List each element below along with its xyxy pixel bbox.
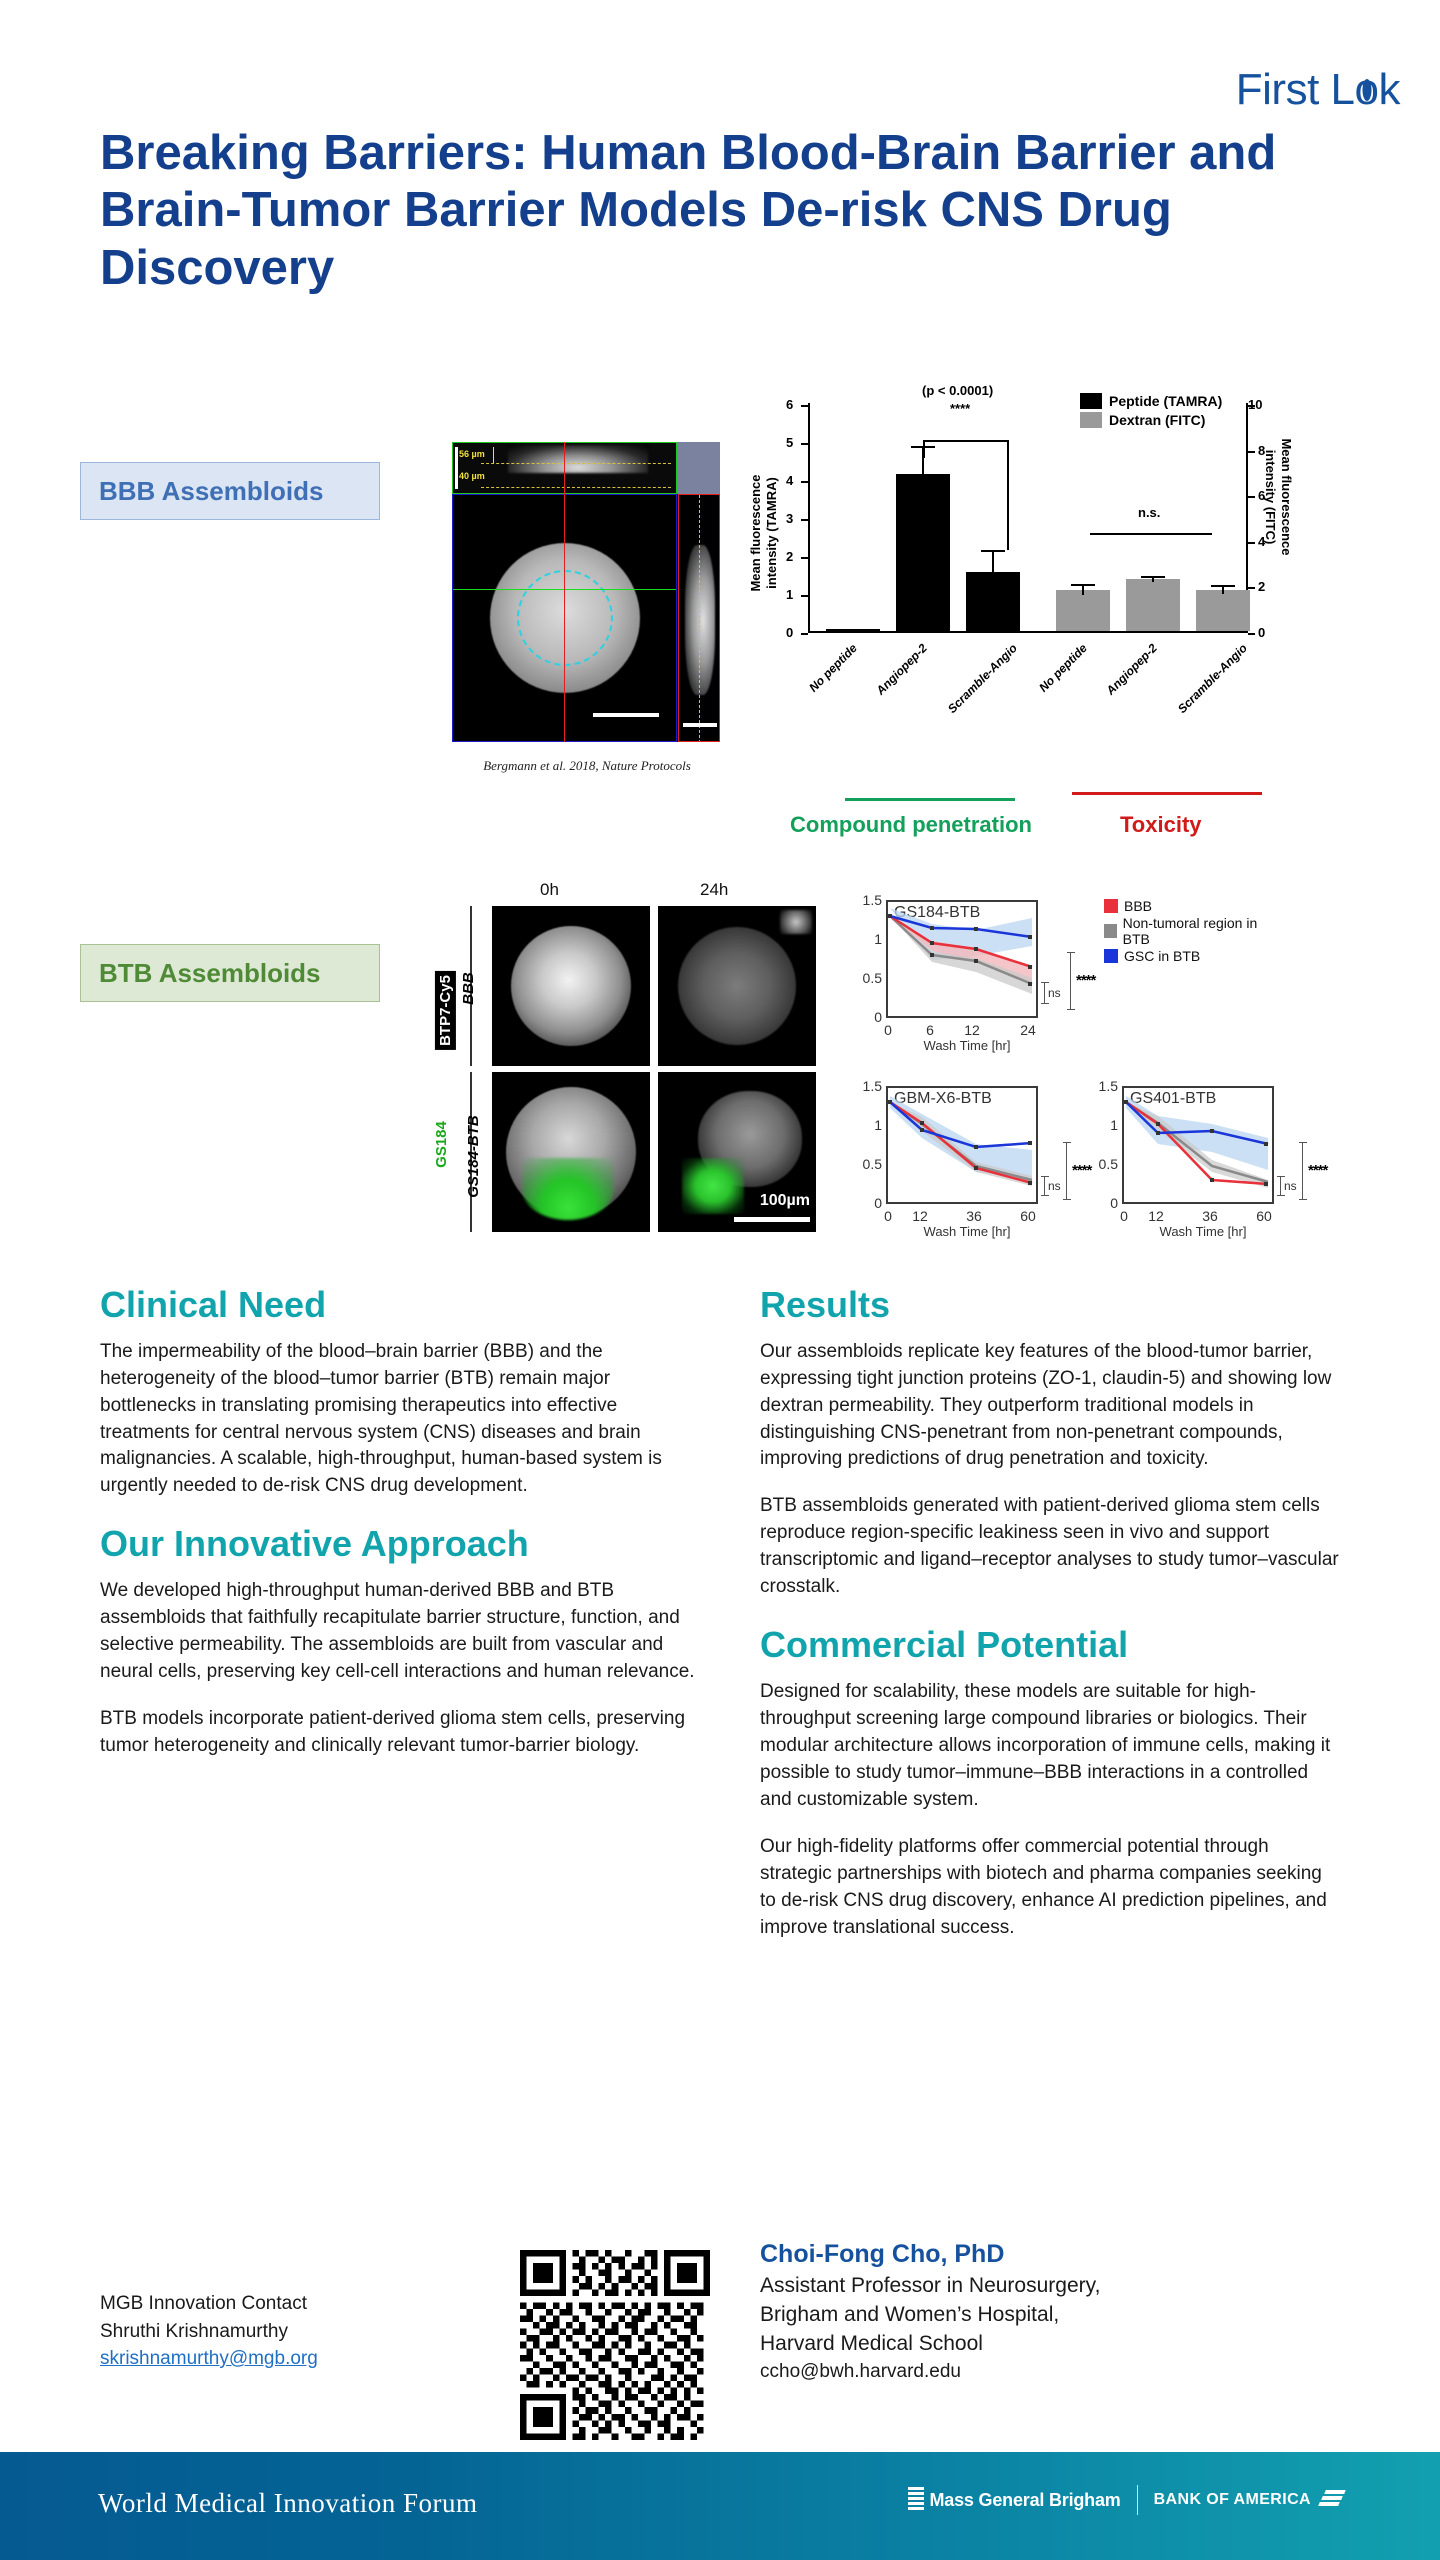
line-chart-1-ns: ns (1048, 986, 1061, 1000)
line-chart-1-stars-bracket (1070, 952, 1071, 1010)
legend-label-gsc: GSC in BTB (1124, 948, 1200, 964)
presenter-email: ccho@bwh.harvard.edu (760, 2361, 1100, 2383)
presenter-block: Choi-Fong Cho, PhD Assistant Professor i… (760, 2240, 1100, 2383)
bar-chart-compound-penetration: Mean fluorescence intensity (TAMRA) Mean… (750, 385, 1320, 705)
presenter-title-line3: Harvard Medical School (760, 2330, 1100, 2359)
scale-label-56um: 56 µm (459, 449, 485, 459)
bar-chart-plot-area (808, 403, 1248, 631)
legend-label-bbb: BBB (1124, 898, 1152, 914)
contact-org: MGB Innovation Contact (100, 2290, 318, 2318)
qr-code-svg (520, 2250, 710, 2440)
line-chart-2-xlabel: Wash Time [hr] (902, 1224, 1032, 1239)
toxicity-underline (1072, 792, 1262, 795)
legend-swatch-peptide (1080, 393, 1102, 409)
line-chart-gs401-btb: GS401-BTB 1.5 1 0.5 0 0 12 36 60 Wash Ti… (1068, 1072, 1328, 1242)
bar-dextran-angiopep2 (1126, 579, 1180, 631)
line-chart-3-xtick-60: 60 (1254, 1208, 1274, 1224)
penetration-underline (845, 798, 1015, 801)
bbb-micrograph-figure: 56 µm 40 µm (452, 442, 720, 742)
btb-scale-bar (734, 1217, 810, 1222)
presenter-title-line1: Assistant Professor in Neurosurgery, (760, 2272, 1100, 2301)
btb-micrograph-grid: 0h 24h BBB GS184-BTB BTP7-Cy5 GS184 100µ… (430, 880, 820, 1230)
line-chart-3-ytick-0_5: 0.5 (1082, 1156, 1118, 1172)
btb-image-btb-0h (492, 1072, 650, 1232)
para-approach-2: BTB models incorporate patient-derived g… (100, 1706, 700, 1760)
micrograph-yz-view (678, 494, 720, 742)
left-text-column: Clinical Need The impermeability of the … (100, 1285, 700, 1780)
footer-logo-mgb-text: Mass General Brigham (930, 2490, 1121, 2511)
toxicity-label: Toxicity (1120, 812, 1202, 838)
line-chart-1-svg (886, 900, 1038, 1018)
para-results-2: BTB assembloids generated with patient-d… (760, 1493, 1340, 1601)
bar-xtick-2: Scramble-Angio (918, 641, 1020, 743)
bar-dextran-no-peptide (1056, 590, 1110, 631)
heading-clinical-need: Clinical Need (100, 1285, 700, 1325)
presenter-name: Choi-Fong Cho, PhD (760, 2240, 1100, 2269)
line-chart-3-xtick-0: 0 (1114, 1208, 1134, 1224)
footer-logo-divider (1137, 2485, 1138, 2515)
annotation-ns: n.s. (1138, 505, 1160, 520)
btb-channel-tag-gs184: GS184 (433, 1121, 450, 1168)
presenter-title-line2: Brigham and Women’s Hospital, (760, 2301, 1100, 2330)
line-chart-3-svg (1122, 1086, 1274, 1204)
qr-code[interactable] (520, 2250, 710, 2440)
heading-results: Results (760, 1285, 1340, 1325)
btb-image-bbb-24h (658, 906, 816, 1066)
line-chart-2-xtick-0: 0 (878, 1208, 898, 1224)
legend-swatch-nontumoral (1104, 924, 1117, 938)
line-chart-1-xlabel: Wash Time [hr] (902, 1038, 1032, 1053)
line-chart-2-stars-bracket (1066, 1142, 1067, 1200)
line-chart-1-legend: BBB Non-tumoral region in BTB GSC in BTB (1104, 898, 1272, 965)
line-chart-1-ytick-0_5: 0.5 (846, 970, 882, 986)
line-chart-3-xtick-12: 12 (1146, 1208, 1166, 1224)
footer-logo-boa-text: BANK OF AMERICA (1154, 2491, 1311, 2509)
btb-channel-tag-btp7: BTP7-Cy5 (435, 971, 456, 1050)
line-chart-2-xtick-12: 12 (910, 1208, 930, 1224)
penetration-label: Compound penetration (790, 812, 1032, 838)
bar-xtick-5: Scramble-Angio (1148, 641, 1250, 743)
line-chart-3-ns-bracket (1280, 1176, 1281, 1196)
legend-swatch-bbb (1104, 899, 1118, 913)
line-chart-1-xtick-12: 12 (962, 1022, 982, 1038)
line-chart-2-svg (886, 1086, 1038, 1204)
legend-label-peptide: Peptide (TAMRA) (1109, 393, 1222, 409)
poster-canvas: First Lok Breaking Barriers: Human Blood… (0, 0, 1440, 2560)
btb-col-header-24h: 24h (700, 880, 728, 900)
para-commercial-1: Designed for scalability, these models a… (760, 1679, 1340, 1814)
btb-row-label-btb: GS184-BTB (465, 1115, 482, 1198)
line-chart-1-ytick-1_0: 1 (846, 931, 882, 947)
footer-event-title: World Medical Innovation Forum (98, 2488, 478, 2519)
line-chart-2-ytick-1_5: 1.5 (846, 1078, 882, 1094)
annotation-stars: **** (950, 401, 970, 416)
para-approach-1: We developed high-throughput human-deriv… (100, 1578, 700, 1686)
footer-logos: Mass General Brigham BANK OF AMERICA (908, 2485, 1345, 2515)
section-chip-bbb: BBB Assembloids (80, 462, 380, 520)
line-chart-2-ns: ns (1048, 1179, 1061, 1193)
line-chart-2-ytick-1_0: 1 (846, 1117, 882, 1133)
section-chip-btb: BTB Assembloids (80, 944, 380, 1002)
line-chart-1-ns-bracket (1044, 982, 1045, 1004)
figure-citation: Bergmann et al. 2018, Nature Protocols (452, 758, 722, 774)
legend-swatch-dextran (1080, 412, 1102, 428)
bank-of-america-flag-icon (1319, 2490, 1345, 2510)
scale-label-40um: 40 µm (459, 471, 485, 481)
line-chart-1-xtick-24: 24 (1018, 1022, 1038, 1038)
first-look-logo: First Lok (1150, 60, 1400, 120)
line-chart-3-ytick-1_5: 1.5 (1082, 1078, 1118, 1094)
line-chart-gs184-btb: GS184-BTB 1.5 1 0.5 0 0 6 12 24 Wash Tim… (832, 886, 1272, 1056)
bar-peptide-no-peptide (826, 629, 880, 631)
mass-general-brigham-icon (908, 2487, 924, 2513)
line-chart-1-ytick-0_0: 0 (846, 1009, 882, 1025)
btb-scale-text: 100µm (760, 1192, 810, 1210)
btb-row-label-bbb: BBB (460, 972, 477, 1005)
line-chart-2-ytick-0_0: 0 (846, 1195, 882, 1211)
first-look-logo-text: First Lok (1236, 65, 1400, 115)
first-look-eye-icon: o (1355, 65, 1379, 115)
btb-image-btb-24h: 100µm (658, 1072, 816, 1232)
section-chip-btb-label: BTB Assembloids (99, 958, 321, 989)
section-chip-bbb-label: BBB Assembloids (99, 476, 323, 507)
legend-item-dextran: Dextran (FITC) (1080, 412, 1222, 428)
line-chart-3-stars: **** (1308, 1162, 1327, 1179)
bar-chart-ylabel-right: Mean fluorescence intensity (FITC) (1263, 417, 1294, 577)
micrograph-corner-panel (677, 442, 720, 494)
line-chart-2-ytick-0_5: 0.5 (846, 1156, 882, 1172)
legend-swatch-gsc (1104, 949, 1118, 963)
line-chart-3-xtick-36: 36 (1200, 1208, 1220, 1224)
legend-item-gsc: GSC in BTB (1104, 948, 1272, 964)
contact-email-link[interactable]: skrishnamurthy@mgb.org (100, 2348, 318, 2369)
right-text-column: Results Our assembloids replicate key fe… (760, 1285, 1340, 1962)
line-chart-3-xlabel: Wash Time [hr] (1138, 1224, 1268, 1239)
para-clinical-need-1: The impermeability of the blood–brain ba… (100, 1339, 700, 1501)
heading-innovative-approach: Our Innovative Approach (100, 1524, 700, 1564)
legend-item-peptide: Peptide (TAMRA) (1080, 393, 1222, 409)
contact-person: Shruthi Krishnamurthy (100, 2318, 318, 2346)
legend-label-nontumoral: Non-tumoral region in BTB (1123, 915, 1272, 947)
line-chart-1-stars: **** (1076, 972, 1095, 989)
bar-dextran-scramble-angio (1196, 590, 1250, 631)
para-results-1: Our assembloids replicate key features o… (760, 1339, 1340, 1474)
line-chart-2-ns-bracket (1044, 1176, 1045, 1196)
line-chart-3-stars-bracket (1302, 1142, 1303, 1200)
line-chart-1-ytick-1_5: 1.5 (846, 892, 882, 908)
annotation-pvalue: (p < 0.0001) (922, 383, 993, 398)
btb-col-header-0h: 0h (540, 880, 559, 900)
legend-item-bbb: BBB (1104, 898, 1272, 914)
btb-image-bbb-0h (492, 906, 650, 1066)
legend-item-nontumoral: Non-tumoral region in BTB (1104, 915, 1272, 947)
legend-label-dextran: Dextran (FITC) (1109, 412, 1205, 428)
line-chart-3-ns: ns (1284, 1179, 1297, 1193)
line-chart-gbm-x6-btb: GBM-X6-BTB 1.5 1 0.5 0 0 12 36 60 Wash T… (832, 1072, 1092, 1242)
line-chart-2-xtick-60: 60 (1018, 1208, 1038, 1224)
line-chart-1-xtick-0: 0 (878, 1022, 898, 1038)
line-chart-1-xtick-6: 6 (920, 1022, 940, 1038)
line-chart-2-xtick-36: 36 (964, 1208, 984, 1224)
para-commercial-2: Our high-fidelity platforms offer commer… (760, 1834, 1340, 1942)
footer-bar: World Medical Innovation Forum Mass Gene… (0, 2452, 1440, 2560)
page-title: Breaking Barriers: Human Blood-Brain Bar… (100, 125, 1300, 297)
innovation-contact-block: MGB Innovation Contact Shruthi Krishnamu… (100, 2290, 318, 2373)
line-chart-3-ytick-0_0: 0 (1082, 1195, 1118, 1211)
line-chart-3-ytick-1_0: 1 (1082, 1117, 1118, 1133)
bar-chart-legend: Peptide (TAMRA) Dextran (FITC) (1080, 393, 1222, 431)
bar-chart-ylabel-left: Mean fluorescence intensity (TAMRA) (748, 453, 779, 613)
heading-commercial-potential: Commercial Potential (760, 1625, 1340, 1665)
